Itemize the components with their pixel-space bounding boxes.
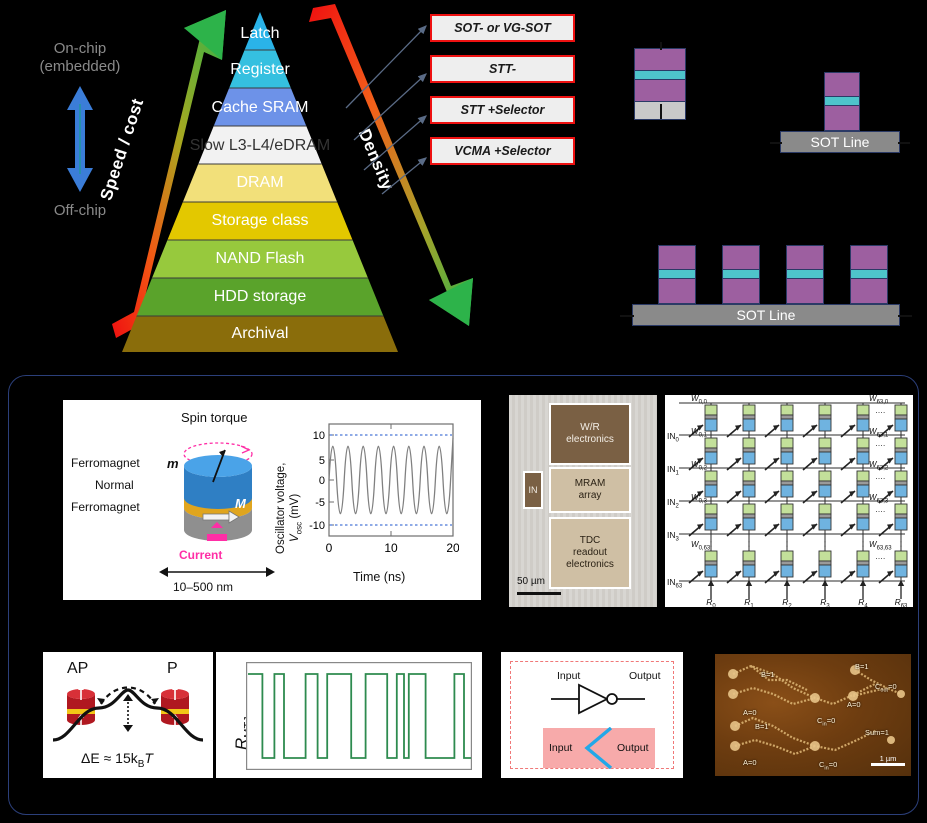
afm-label-a0-upper: A=0 (743, 708, 757, 717)
memory-hierarchy-section: On-chip (embedded) Off-chip (0, 0, 927, 370)
svg-text:-10: -10 (309, 520, 325, 532)
mtj-stack (850, 245, 888, 304)
svg-text:IN3: IN3 (667, 530, 680, 543)
mtj-array-row (632, 245, 900, 304)
afm-label-cin-lower: Cin=0 (819, 760, 837, 772)
callout-sot-vgsot[interactable]: SOT- or VG-SOT (430, 14, 575, 42)
free-layer (850, 245, 888, 269)
osc-ylabel-line1: Oscillator voltage, (275, 463, 287, 554)
nanopillar-illustration (163, 426, 273, 556)
pinned-layer (824, 105, 860, 131)
dimension-arrow-icon (159, 566, 275, 578)
layer-label-normal: Normal (95, 478, 134, 492)
svg-text:R4: R4 (858, 597, 868, 607)
contact-via (660, 104, 662, 119)
svg-text:IN63: IN63 (667, 577, 683, 590)
pinned-layer (786, 278, 824, 304)
state-label-ap: AP (67, 660, 88, 678)
sot-line-label: SOT Line (737, 307, 796, 323)
layer-label-ferromagnet-bottom: Ferromagnet (71, 500, 140, 514)
memory-hierarchy-pyramid: Latch Register Cache SRAM Slow L3-L4/eDR… (110, 8, 410, 356)
tdc-label-line1: TDC (580, 535, 601, 547)
sot-line-wrapper: SOT Line (632, 304, 900, 326)
pinned-layer (634, 79, 686, 101)
svg-text:R0: R0 (706, 597, 716, 607)
mtj-stack (634, 48, 686, 120)
afm-label-sum: Sum=1 (865, 728, 889, 737)
afm-scale-bar-label: 1 µm (871, 754, 905, 763)
free-layer (634, 48, 686, 70)
afm-full-adder-image: B=1 A=0 B=1 A=0 Cin=0 Cin=0 B=1 A=0 Cout… (713, 652, 913, 778)
osc-ylabel-line2: Vosc (mV) (289, 494, 303, 542)
svg-text:R3: R3 (820, 597, 830, 607)
mtj-stack (786, 245, 824, 304)
svg-text:10: 10 (384, 541, 398, 555)
svg-text:0: 0 (319, 475, 325, 487)
osc-ylabel-sub: osc (294, 522, 303, 534)
sot-lead-left (770, 142, 782, 144)
tunnel-barrier-layer (786, 269, 824, 278)
chevron-icon (577, 727, 615, 769)
svg-text:0: 0 (326, 541, 333, 555)
energy-barrier-equation: ΔE ≈ 15kBT (81, 750, 153, 770)
callout-vcma-selector[interactable]: VCMA +Selector (430, 137, 575, 165)
free-layer (786, 245, 824, 269)
mram-chip-micrograph: W/R electronics MRAM array IN TDC readou… (509, 395, 657, 607)
osc-xlabel: Time (ns) (353, 570, 405, 584)
svg-text:W63,2: W63,2 (869, 460, 889, 472)
cin-upper-sub: in (822, 722, 826, 728)
mram-crossbar-array: IN0W0,0W63,0….IN1W0,1W63,1….IN2W0,2W63,2… (665, 395, 913, 607)
svg-text:W63,0: W63,0 (869, 395, 889, 406)
mram-technology-callouts: SOT- or VG-SOT STT- STT +Selector VCMA +… (430, 14, 575, 178)
svg-text:W0,0: W0,0 (691, 395, 708, 406)
afm-label-cout: Cout=0 (875, 682, 897, 694)
sot-line-wrapper: SOT Line (780, 131, 900, 153)
energy-barrier-figure: AP P (43, 652, 213, 778)
afm-label-b1-right: B=1 (855, 662, 869, 671)
afm-scale-bar-group: 1 µm (871, 754, 905, 766)
svg-text:W63,3: W63,3 (869, 493, 889, 505)
layer-label-ferromagnet-top: Ferromagnet (71, 456, 140, 470)
chip-block-in: IN (523, 471, 543, 509)
chip-block-tdc-readout: TDC readout electronics (549, 517, 631, 589)
sot-line-label: SOT Line (811, 134, 870, 150)
svg-text:IN2: IN2 (667, 497, 680, 510)
gate-output-label: Output (629, 670, 661, 682)
equation-main: ΔE ≈ 15k (81, 750, 138, 766)
current-label: Current (179, 548, 222, 562)
svg-text:….: …. (875, 439, 885, 448)
oscillator-voltage-chart: Oscillator voltage, Vosc (mV) (271, 418, 461, 590)
cout-sub: out (880, 688, 888, 694)
mram-label-line2: array (579, 490, 602, 502)
afm-label-b1-lower: B=1 (755, 722, 769, 731)
block-output-label: Output (617, 742, 649, 754)
energy-landscape-icon (49, 678, 207, 746)
sot-mtj-array-diagram: SOT Line (632, 245, 900, 326)
pyramid-shape (110, 8, 410, 356)
afm-label-a0-right: A=0 (847, 700, 861, 709)
bottom-electrode (634, 101, 686, 120)
svg-text:IN1: IN1 (667, 464, 680, 477)
svg-text:20: 20 (446, 541, 459, 555)
chip-scale-bar-label: 50 µm (517, 576, 545, 587)
mtj-stack (658, 245, 696, 304)
afm-label-cin-upper: Cin=0 (817, 716, 835, 728)
wr-label-line2: electronics (566, 434, 614, 446)
applications-panel: Spin torque m M Ferromagnet Normal Ferr (8, 375, 919, 815)
top-contact (660, 42, 662, 50)
afm-scale-bar (871, 763, 905, 766)
svg-text:W63,1: W63,1 (869, 427, 889, 439)
mram-label-line1: MRAM (575, 478, 606, 490)
afm-label-b1-top: B=1 (761, 670, 775, 679)
chip-block-mram-array: MRAM array (549, 467, 631, 513)
svg-text:….: …. (875, 552, 885, 561)
chip-block-wr-electronics: W/R electronics (549, 403, 631, 465)
svg-text:5: 5 (319, 455, 325, 467)
callout-stt[interactable]: STT- (430, 55, 575, 83)
gate-input-label: Input (557, 670, 580, 682)
svg-text:IN0: IN0 (667, 431, 680, 444)
stt-mtj-stack-diagram (634, 48, 686, 120)
svg-text:….: …. (875, 406, 885, 415)
osc-ylabel-v: V (289, 534, 301, 542)
tunnel-barrier-layer (634, 70, 686, 79)
equation-tail: T (144, 750, 153, 766)
tunnel-barrier-layer (824, 96, 860, 105)
osc-ylabel-unit: (mV) (289, 494, 301, 522)
rmtj-plot-svg (246, 662, 472, 770)
svg-text:W0,63: W0,63 (691, 540, 711, 552)
pinned-layer (658, 278, 696, 304)
free-layer (658, 245, 696, 269)
cin-lower-sub: in (824, 766, 828, 772)
svg-text:….: …. (875, 472, 885, 481)
rmtj-telegraph-noise-figure: RMTJ (216, 652, 482, 778)
spin-torque-title: Spin torque (181, 410, 248, 425)
tunnel-barrier-layer (722, 269, 760, 278)
mtj-stack (722, 245, 760, 304)
block-input-label: Input (549, 742, 572, 754)
mtj-stack (824, 72, 860, 131)
svg-text:….: …. (875, 505, 885, 514)
sot-lead-left (620, 315, 634, 317)
svg-text:R1: R1 (744, 597, 754, 607)
svg-text:-5: -5 (315, 497, 325, 509)
free-layer (824, 72, 860, 96)
magnetization-m-label: m (167, 456, 179, 471)
sot-line: SOT Line (632, 304, 900, 326)
sot-line: SOT Line (780, 131, 900, 153)
svg-text:W63,63: W63,63 (869, 540, 892, 552)
tdc-label-line2: readout (573, 547, 607, 559)
sot-mtj-single-diagram: SOT Line (780, 72, 900, 153)
chip-scale-bar (517, 592, 561, 595)
not-gate-icon (549, 682, 659, 716)
sot-lead-right (898, 315, 912, 317)
pinned-layer (722, 278, 760, 304)
tunnel-barrier-layer (658, 269, 696, 278)
pinned-layer (850, 278, 888, 304)
tunnel-barrier-layer (850, 269, 888, 278)
osc-plot-svg: 10 5 0 -5 -10 0 10 20 (303, 418, 459, 568)
wr-label-line1: W/R (580, 422, 599, 434)
svg-text:R2: R2 (782, 597, 792, 607)
magnetization-M-label: M (235, 496, 246, 511)
state-label-p: P (167, 660, 178, 678)
spin-torque-oscillator-figure: Spin torque m M Ferromagnet Normal Ferr (63, 400, 481, 600)
figure-root: On-chip (embedded) Off-chip (0, 0, 927, 823)
free-layer (722, 245, 760, 269)
crossbar-svg: IN0W0,0W63,0….IN1W0,1W63,1….IN2W0,2W63,2… (665, 395, 913, 607)
dimension-label: 10–500 nm (173, 580, 233, 594)
callout-stt-selector[interactable]: STT +Selector (430, 96, 575, 124)
in-label: IN (529, 484, 538, 496)
afm-label-a0-lower: A=0 (743, 758, 757, 767)
logic-gate-figure: Input Output Input Output (501, 652, 683, 778)
svg-text:10: 10 (313, 430, 325, 442)
magnetic-logic-block: Input Output (543, 728, 655, 768)
sot-lead-right (898, 142, 910, 144)
tdc-label-line3: electronics (566, 559, 614, 571)
